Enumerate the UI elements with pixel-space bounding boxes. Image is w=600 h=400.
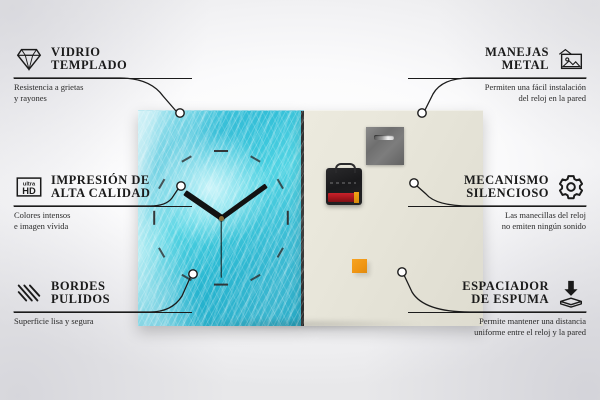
callout-description: Permiten una fácil instalación del reloj…: [408, 82, 586, 103]
callout-title: MANEJAS METAL: [485, 46, 549, 73]
callout-header: ultra HD IMPRESIÓN DE ALTA CALIDAD: [14, 172, 192, 202]
gear-icon: [556, 172, 586, 202]
diamond-icon: [14, 44, 44, 74]
metal-hanger: [366, 127, 404, 165]
picture-frame-hanging-icon: [556, 44, 586, 74]
polished-edges-icon: [14, 278, 44, 308]
clock-mechanism: [326, 168, 362, 205]
second-hand: [220, 218, 221, 278]
callout-title: ESPACIADOR DE ESPUMA: [462, 280, 549, 307]
callout-divider: [14, 78, 192, 79]
callout-description: Las manecillas del reloj no emiten ningú…: [408, 210, 586, 231]
callout-header: VIDRIO TEMPLADO: [14, 44, 192, 74]
callout-title: MECANISMO SILENCIOSO: [464, 174, 549, 201]
callout-description: Colores intensos e imagen vívida: [14, 210, 192, 231]
foam-spacer: [352, 259, 367, 273]
callout-header: MANEJAS METAL: [408, 44, 586, 74]
callout-manejas-metal: MANEJAS METAL Permiten una fácil instala…: [408, 44, 586, 103]
callout-title: IMPRESIÓN DE ALTA CALIDAD: [51, 174, 150, 201]
battery: [328, 193, 358, 202]
callout-description: Resistencia a grietas y rayones: [14, 82, 192, 103]
callout-mecanismo-silencioso: MECANISMO SILENCIOSO Las manecillas del …: [408, 172, 586, 231]
hd-label: HD: [22, 186, 36, 196]
foam-spacer-arrow-icon: [556, 278, 586, 308]
clock-center-hub: [219, 216, 224, 221]
callout-header: MECANISMO SILENCIOSO: [408, 172, 586, 202]
callout-header: BORDES PULIDOS: [14, 278, 192, 308]
clock-tick: [287, 211, 289, 225]
callout-espaciador-de-espuma: ESPACIADOR DE ESPUMA Permite mantener un…: [408, 278, 586, 337]
product-feature-infographic: VIDRIO TEMPLADO Resistencia a grietas y …: [0, 0, 600, 400]
ultra-hd-icon: ultra HD: [14, 172, 44, 202]
clock-tick: [214, 284, 228, 286]
mechanism-hook: [335, 163, 356, 173]
hanger-slot: [374, 135, 394, 140]
callout-description: Permite mantener una distancia uniforme …: [408, 316, 586, 337]
callout-impresion-alta-calidad: ultra HD IMPRESIÓN DE ALTA CALIDAD Color…: [14, 172, 192, 231]
clock-tick: [214, 150, 228, 152]
mechanism-label: [330, 182, 356, 184]
callout-divider: [408, 78, 586, 79]
callout-divider: [14, 206, 192, 207]
callout-vidrio-templado: VIDRIO TEMPLADO Resistencia a grietas y …: [14, 44, 192, 103]
callout-divider: [408, 206, 586, 207]
callout-header: ESPACIADOR DE ESPUMA: [408, 278, 586, 308]
callout-divider: [408, 312, 586, 313]
callout-description: Superficie lisa y segura: [14, 316, 192, 327]
callout-divider: [14, 312, 192, 313]
callout-title: VIDRIO TEMPLADO: [51, 46, 127, 73]
callout-bordes-pulidos: BORDES PULIDOS Superficie lisa y segura: [14, 278, 192, 327]
callout-title: BORDES PULIDOS: [51, 280, 110, 307]
